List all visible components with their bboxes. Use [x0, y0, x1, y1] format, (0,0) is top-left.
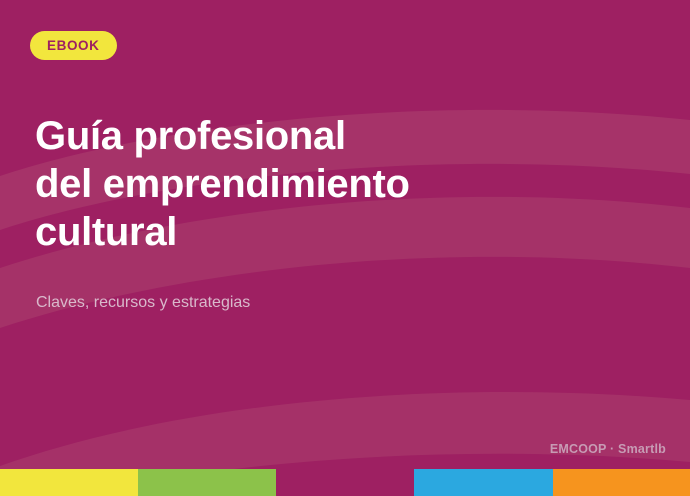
ebook-cover: EBOOK Guía profesional del emprendimient…: [0, 0, 690, 496]
cover-title-line-1: Guía profesional: [35, 112, 555, 160]
bottom-color-bar: [0, 469, 690, 496]
cover-title-line-3: cultural: [35, 208, 555, 256]
cover-subtitle: Claves, recursos y estrategias: [36, 293, 250, 313]
color-segment-blue: [414, 469, 553, 496]
color-segment-orange: [553, 469, 690, 496]
color-segment-magenta: [276, 469, 414, 496]
brand-footer: EMCOOP · Smartlb: [550, 442, 666, 456]
cover-title: Guía profesional del emprendimiento cult…: [35, 112, 555, 256]
ebook-badge: EBOOK: [30, 31, 117, 60]
ebook-badge-label: EBOOK: [47, 39, 100, 53]
cover-title-line-2: del emprendimiento: [35, 160, 555, 208]
color-segment-yellow: [0, 469, 138, 496]
color-segment-green: [138, 469, 276, 496]
